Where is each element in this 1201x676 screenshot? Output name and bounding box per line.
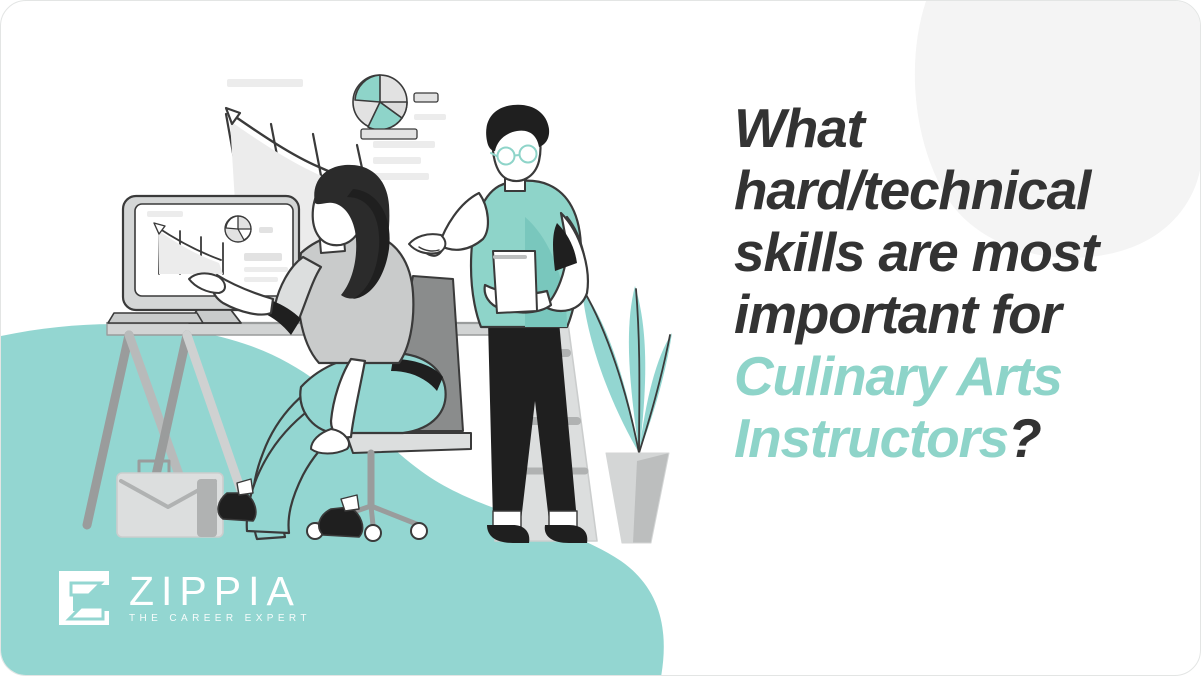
monitor-chart (154, 223, 223, 274)
headline-question-mark: ? (1008, 407, 1040, 469)
zippia-tagline: THE CAREER EXPERT (129, 612, 311, 626)
headline-line-1: What (734, 97, 1164, 159)
headline-block: What hard/technical skills are most impo… (734, 97, 1164, 469)
zippia-logo[interactable]: ZIPPIA THE CAREER EXPERT (55, 567, 311, 629)
wall-line-chart (226, 108, 367, 251)
desk (87, 323, 501, 525)
wall-bar-labels (361, 129, 417, 139)
headline-job-title-line-2: Instructors? (734, 407, 1164, 469)
headline-line-4: important for (734, 283, 1164, 345)
headline-line-2: hard/technical (734, 159, 1164, 221)
paper-sheet (493, 251, 537, 313)
headline-line-3: skills are most (734, 221, 1164, 283)
headline-job-title-line-1: Culinary Arts (734, 345, 1164, 407)
zippia-question-card: What hard/technical skills are most impo… (0, 0, 1201, 676)
monitor-screen-content (147, 211, 288, 282)
filing-drawers (495, 271, 597, 541)
headline-job-title-accent: Instructors (734, 407, 1008, 469)
keyboard (108, 313, 203, 323)
wall-pie-legend (414, 93, 446, 120)
briefcase (117, 461, 223, 537)
zippia-z-mark (55, 567, 113, 629)
zippia-wordmark: ZIPPIA (129, 570, 311, 612)
wall-text-bars (227, 79, 435, 180)
standing-man (409, 105, 588, 543)
wall-pie-chart (353, 75, 407, 130)
desktop-monitor (123, 196, 299, 323)
potted-plant (582, 286, 672, 543)
seated-woman (189, 165, 446, 539)
monitor-pie (225, 216, 251, 242)
office-chair (307, 276, 471, 541)
